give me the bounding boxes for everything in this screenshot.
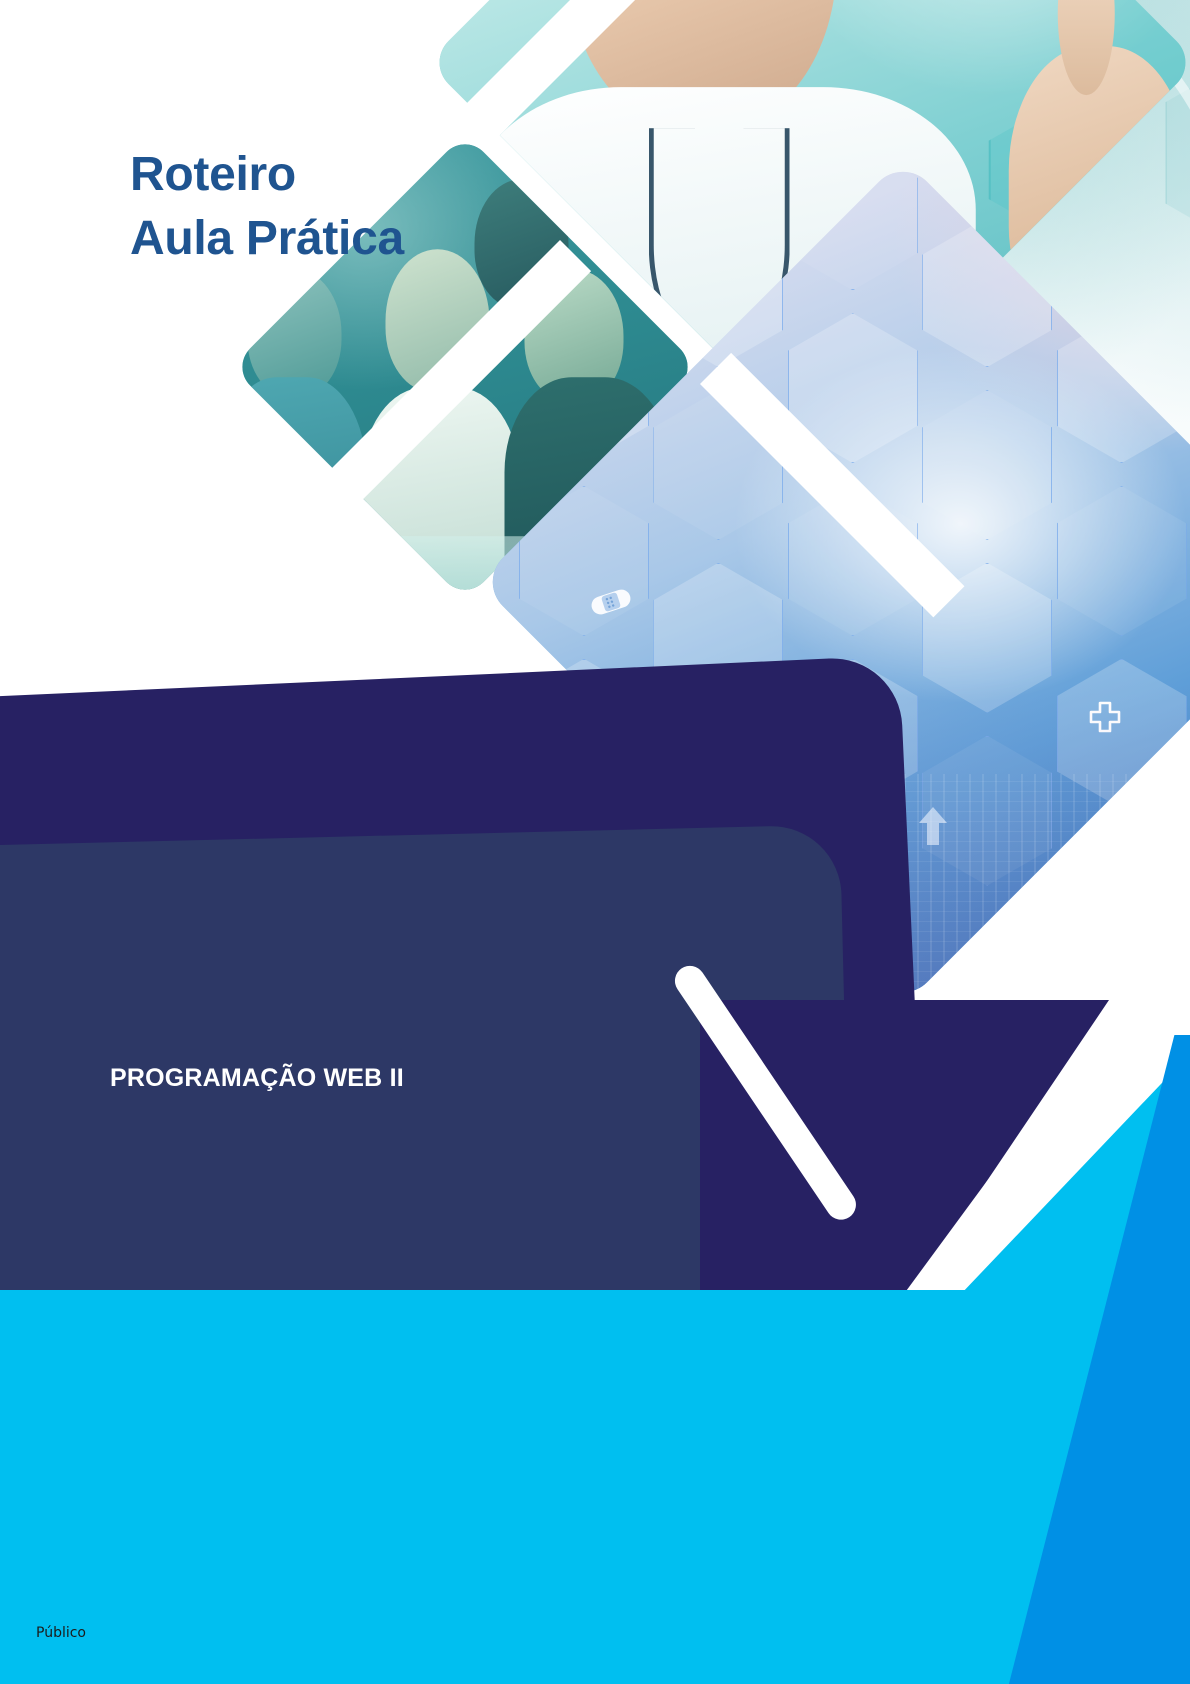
confidentiality-label: Público (36, 1625, 86, 1641)
page-title: Roteiro Aula Prática (130, 143, 404, 271)
document-cover-page: Roteiro Aula Prática PROGRAMAÇÃO WEB II … (0, 0, 1190, 1684)
course-title: PROGRAMAÇÃO WEB II (110, 1064, 404, 1093)
cover-text: Roteiro Aula Prática PROGRAMAÇÃO WEB II … (0, 0, 1190, 1684)
